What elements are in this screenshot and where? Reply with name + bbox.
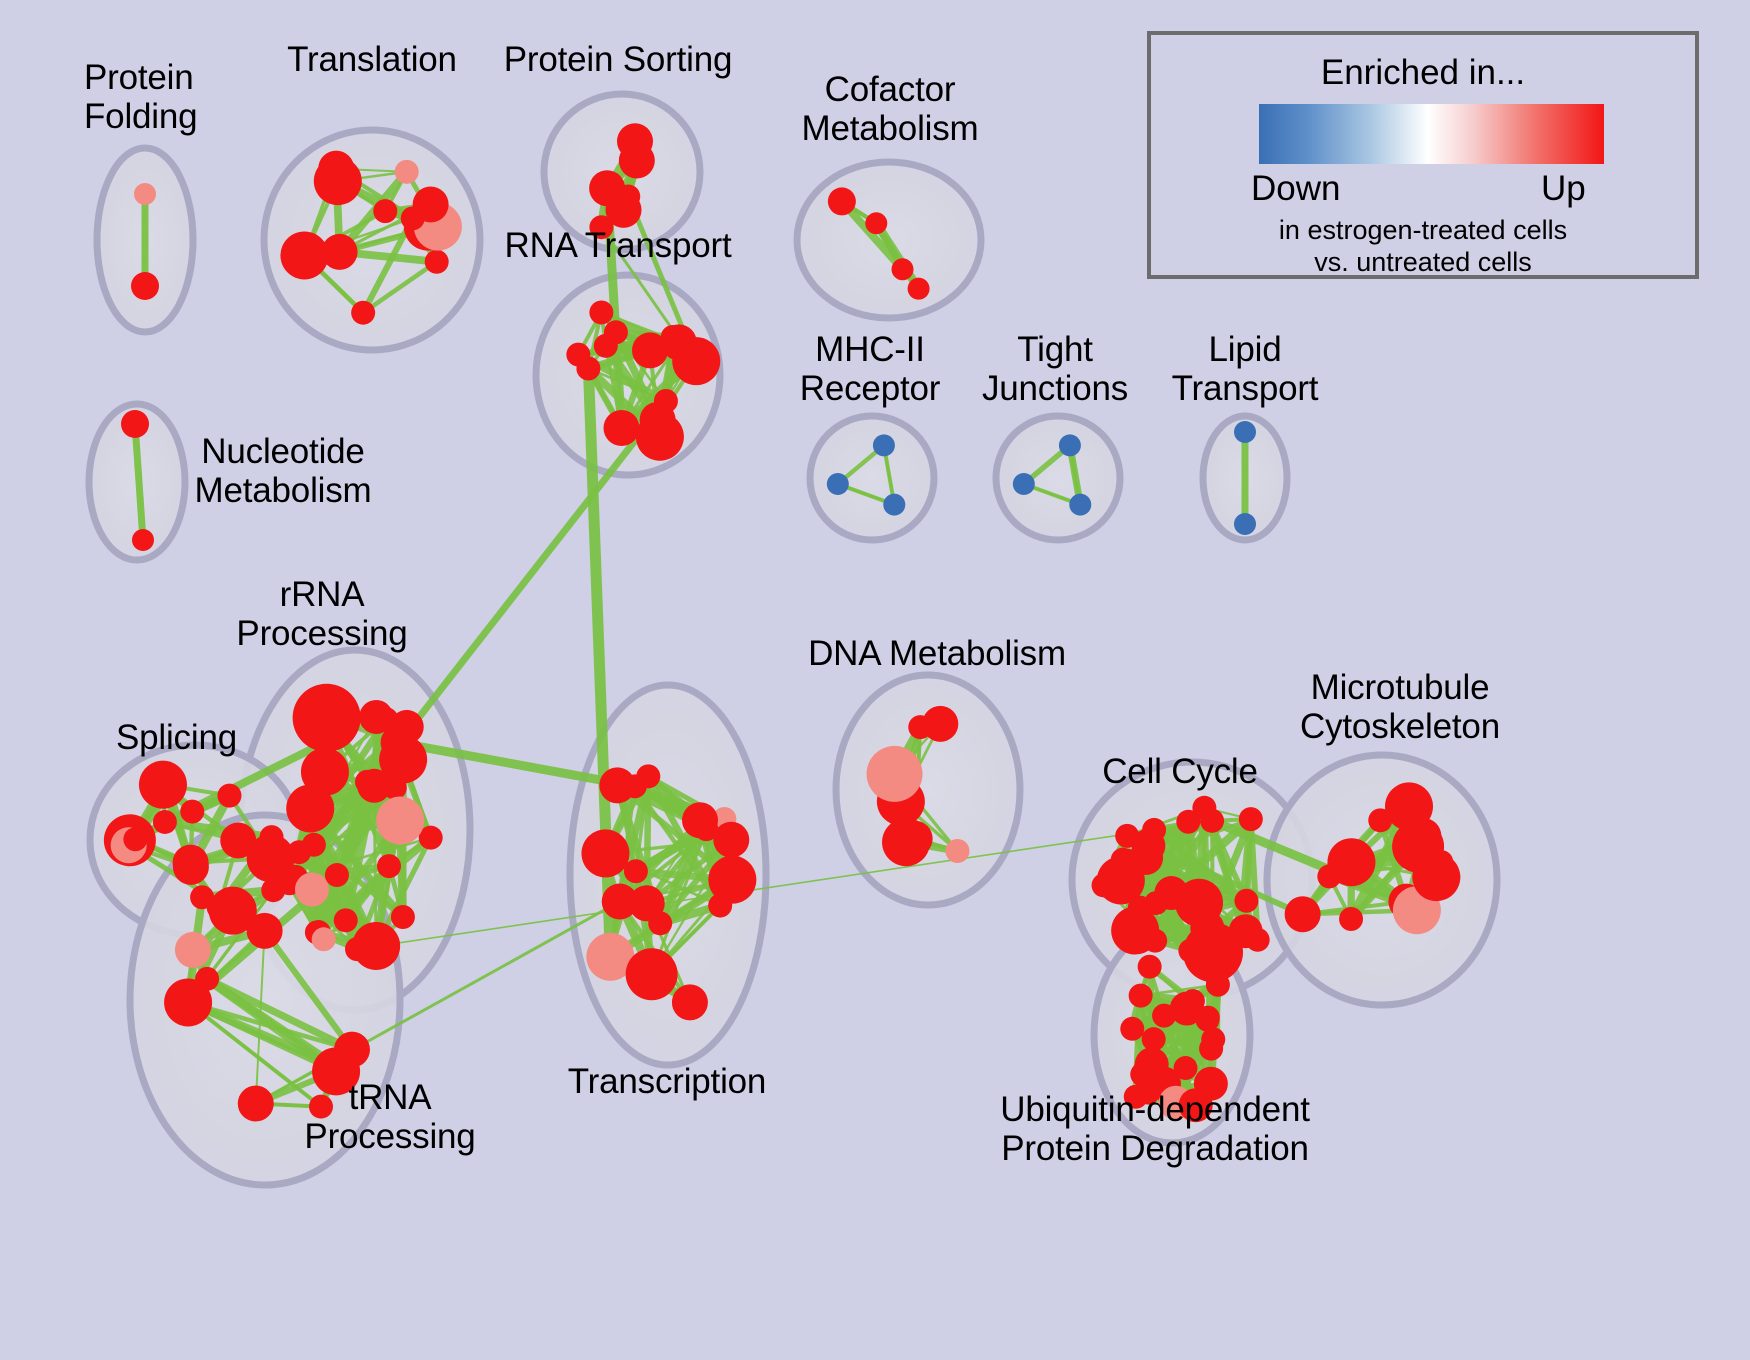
- network-node: [1196, 1006, 1220, 1030]
- network-node: [1190, 911, 1224, 945]
- cluster-label-lipid-transport: Lipid Transport: [1172, 330, 1319, 408]
- network-node: [345, 937, 369, 961]
- network-node: [238, 1086, 274, 1122]
- network-node: [1234, 513, 1256, 535]
- network-node: [566, 343, 590, 367]
- network-node: [922, 706, 958, 742]
- cluster-label-rna-transport: RNA Transport: [505, 226, 732, 265]
- network-node: [1412, 853, 1460, 901]
- network-node: [334, 908, 358, 932]
- network-node: [1246, 928, 1270, 952]
- network-node: [395, 160, 419, 184]
- network-node: [425, 250, 449, 274]
- network-node: [1152, 1004, 1176, 1028]
- legend-caption-line-1: in estrogen-treated cells: [1151, 215, 1695, 246]
- network-node: [589, 300, 613, 324]
- legend-low-label: Down: [1251, 169, 1340, 209]
- network-node: [391, 905, 415, 929]
- network-node: [318, 151, 354, 187]
- cluster-label-cell-cycle: Cell Cycle: [1102, 752, 1258, 791]
- network-node: [295, 873, 329, 907]
- network-node: [883, 494, 905, 516]
- network-node: [1327, 838, 1375, 886]
- network-node: [1116, 913, 1140, 937]
- network-node: [594, 334, 618, 358]
- network-node: [293, 684, 361, 752]
- network-node: [261, 878, 285, 902]
- network-node: [1120, 1017, 1144, 1041]
- network-node: [131, 272, 159, 300]
- network-node: [401, 206, 425, 230]
- network-node: [280, 231, 328, 279]
- network-node: [153, 810, 177, 834]
- cluster-label-cofactor-metabolism: Cofactor Metabolism: [802, 70, 979, 148]
- network-node: [882, 818, 930, 866]
- cluster-label-nucleotide-metabolism: Nucleotide Metabolism: [195, 432, 372, 510]
- network-node: [312, 927, 336, 951]
- cluster-ellipse-dna-metabolism: [836, 675, 1020, 905]
- network-node: [1013, 473, 1035, 495]
- network-node: [157, 779, 181, 803]
- network-node: [617, 123, 653, 159]
- enrichment-map-figure: Protein FoldingTranslationProtein Sortin…: [0, 0, 1750, 1360]
- network-node: [121, 410, 149, 438]
- cluster-label-tight-junctions: Tight Junctions: [982, 330, 1128, 408]
- network-node: [325, 863, 349, 887]
- cluster-label-microtubule-cytoskeleton: Microtubule Cytoskeleton: [1300, 668, 1500, 746]
- network-node: [1129, 841, 1163, 875]
- network-node: [247, 913, 283, 949]
- cluster-label-trna-processing: tRNA Processing: [304, 1078, 475, 1156]
- network-node: [302, 833, 326, 857]
- network-node: [180, 800, 204, 824]
- network-node: [132, 529, 154, 551]
- network-node: [260, 825, 284, 849]
- cluster-label-rrna-processing: rRNA Processing: [236, 575, 407, 653]
- cluster-label-splicing: Splicing: [116, 718, 237, 757]
- network-node: [648, 911, 672, 935]
- network-node: [1143, 929, 1167, 953]
- network-node: [1142, 818, 1166, 842]
- network-node: [1144, 891, 1168, 915]
- network-node: [355, 770, 379, 794]
- legend-title: Enriched in...: [1151, 53, 1695, 93]
- legend-box: Enriched in... Down Up in estrogen-treat…: [1147, 31, 1699, 279]
- network-node: [682, 802, 718, 838]
- network-node: [324, 1054, 348, 1078]
- network-node: [390, 710, 424, 744]
- network-node: [599, 767, 635, 803]
- cluster-label-transcription: Transcription: [568, 1062, 766, 1101]
- network-node: [373, 199, 397, 223]
- cluster-label-ubiquitin-degradation: Ubiquitin-dependent Protein Degradation: [1000, 1090, 1310, 1168]
- cluster-label-dna-metabolism: DNA Metabolism: [808, 634, 1066, 673]
- network-node: [123, 827, 147, 851]
- network-node: [173, 845, 209, 881]
- network-node: [1285, 896, 1321, 932]
- cluster-label-protein-sorting: Protein Sorting: [504, 40, 733, 79]
- network-node: [134, 183, 156, 205]
- cluster-label-protein-folding: Protein Folding: [84, 58, 197, 136]
- network-node: [672, 984, 708, 1020]
- network-node: [945, 839, 969, 863]
- network-node: [581, 829, 629, 877]
- network-node: [190, 885, 214, 909]
- network-node: [873, 434, 895, 456]
- network-node: [322, 234, 358, 270]
- network-node: [1234, 889, 1258, 913]
- network-node: [867, 746, 923, 802]
- network-node: [891, 258, 913, 280]
- network-node: [301, 748, 349, 796]
- network-node: [626, 948, 678, 1000]
- network-node: [708, 856, 756, 904]
- network-node: [1234, 421, 1256, 443]
- network-node: [351, 301, 375, 325]
- legend-high-label: Up: [1541, 169, 1586, 209]
- network-node: [1092, 873, 1116, 897]
- network-node: [654, 389, 678, 413]
- network-node: [1069, 494, 1091, 516]
- network-node: [377, 854, 401, 878]
- network-node: [1206, 973, 1230, 997]
- network-node: [195, 967, 219, 991]
- network-node: [636, 413, 684, 461]
- network-node: [661, 324, 697, 360]
- network-node: [175, 932, 211, 968]
- network-node: [908, 278, 930, 300]
- cluster-label-translation: Translation: [287, 40, 457, 79]
- network-node: [1059, 434, 1081, 456]
- network-node: [828, 187, 856, 215]
- network-node: [1142, 1027, 1166, 1051]
- network-node: [624, 859, 648, 883]
- legend-caption-line-2: vs. untreated cells: [1151, 247, 1695, 278]
- network-node: [1192, 796, 1216, 820]
- network-node: [603, 410, 639, 446]
- network-node: [827, 473, 849, 495]
- network-node: [1239, 807, 1263, 831]
- network-node: [636, 764, 660, 788]
- network-node: [1385, 782, 1433, 830]
- network-node: [865, 212, 887, 234]
- network-node: [1138, 955, 1162, 979]
- cluster-label-mhc-ii-receptor: MHC-II Receptor: [800, 330, 940, 408]
- legend-color-bar: [1259, 104, 1604, 164]
- network-node: [1129, 984, 1153, 1008]
- network-node: [1339, 907, 1363, 931]
- network-node: [1199, 1037, 1223, 1061]
- network-node: [713, 822, 749, 858]
- network-node: [217, 784, 241, 808]
- network-node: [376, 796, 424, 844]
